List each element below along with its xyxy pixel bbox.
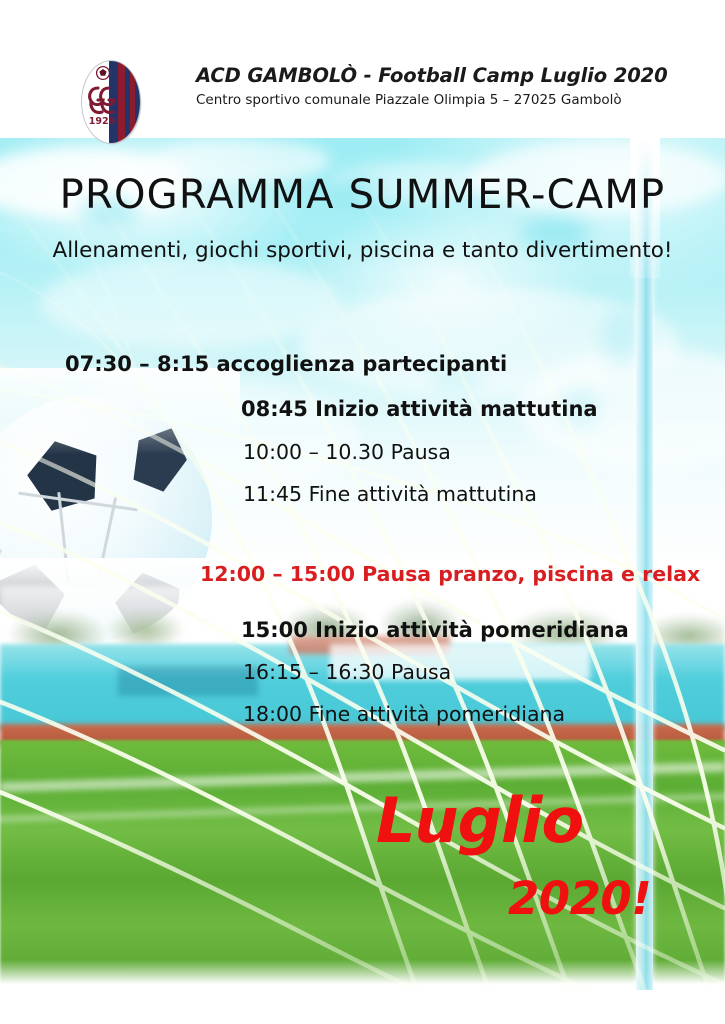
schedule-item: 12:00 – 15:00 Pausa pranzo, piscina e re… <box>200 562 700 586</box>
schedule-item: 18:00 Fine attività pomeridiana <box>243 702 565 726</box>
page-title: PROGRAMMA SUMMER-CAMP <box>0 172 725 218</box>
schedule-item: 10:00 – 10.30 Pausa <box>243 440 451 464</box>
schedule-item: 16:15 – 16:30 Pausa <box>243 660 451 684</box>
schedule-item: 11:45 Fine attività mattutina <box>243 482 537 506</box>
month-headline: Luglio <box>376 784 583 857</box>
page-subtitle: Allenamenti, giochi sportivi, piscina e … <box>0 238 725 263</box>
year-headline: 2020! <box>508 872 651 925</box>
poster-content: PROGRAMMA SUMMER-CAMP Allenamenti, gioch… <box>0 0 725 1024</box>
schedule-item: 08:45 Inizio attività mattutina <box>241 397 598 421</box>
schedule-item: 15:00 Inizio attività pomeridiana <box>241 618 629 642</box>
schedule-item: 07:30 – 8:15 accoglienza partecipanti <box>65 352 507 376</box>
summer-camp-poster: 1929 ACD GAMBOLÒ - Football Camp Luglio … <box>0 0 725 1024</box>
